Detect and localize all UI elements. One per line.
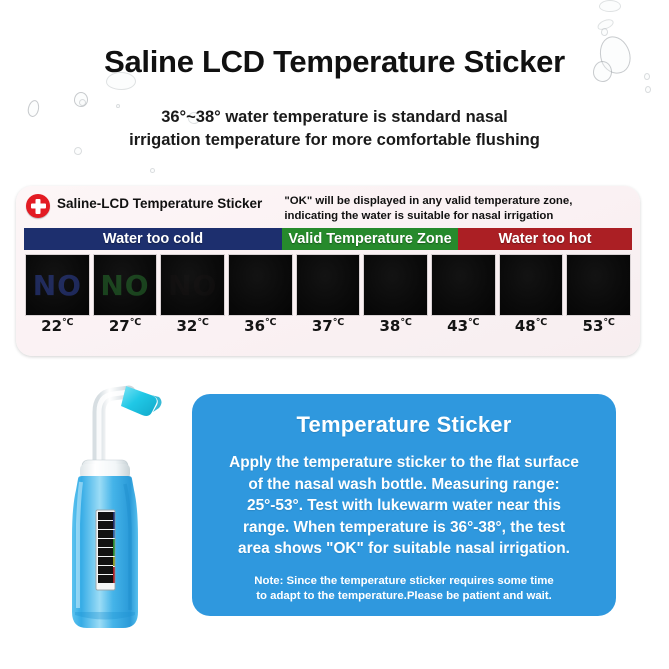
info-panel-note: Note: Since the temperature sticker requ… [206,574,602,604]
temperature-label: 27℃ [93,317,158,335]
lcd-cell [228,254,293,316]
bottle-nozzle [121,386,157,416]
temperature-label: 43℃ [431,317,496,335]
ok-note-line-2: indicating the water is suitable for nas… [284,209,572,224]
temperature-value: 27 [109,317,130,335]
temperature-unit: ℃ [265,317,277,328]
info-body-line-1: Apply the temperature sticker to the fla… [214,452,594,474]
red-cross-icon [26,194,50,218]
lcd-cell [431,254,496,316]
page-subtitle-line-2: irrigation temperature for more comforta… [0,129,669,152]
temperature-value: 43 [447,317,468,335]
lcd-cell [499,254,564,316]
temperature-label-row: 22℃ 27℃ 32℃ 36℃ 37℃ 38℃ 43℃ 48℃ 53℃ [25,317,631,335]
temperature-unit: ℃ [468,317,480,328]
temperature-unit: ℃ [197,317,209,328]
temperature-value: 22 [41,317,62,335]
temperature-unit: ℃ [536,317,548,328]
temperature-unit: ℃ [130,317,142,328]
temperature-label: 48℃ [499,317,564,335]
zone-valid-temperature: Valid Temperature Zone [282,228,458,250]
zone-water-too-cold: Water too cold [24,228,282,250]
temperature-label: 36℃ [228,317,293,335]
lcd-cell [363,254,428,316]
info-body-line-4: range. When temperature is 36°-38°, the … [214,517,594,539]
temperature-label: 37℃ [296,317,361,335]
droplet-icon [599,0,621,12]
sticker-header: Saline-LCD Temperature Sticker "OK" will… [16,186,640,228]
temperature-unit: ℃ [333,317,345,328]
temperature-value: 37 [312,317,333,335]
zone-water-too-hot: Water too hot [458,228,632,250]
droplet-icon [645,86,651,93]
ok-note-line-1: "OK" will be displayed in any valid temp… [284,194,572,209]
info-body-line-5: area shows "OK" for suitable nasal irrig… [214,538,594,560]
droplet-icon [150,168,155,173]
lcd-cell: NO [93,254,158,316]
lcd-cell-row: NO NO NO [25,254,631,316]
temperature-zone-bar: Water too cold Valid Temperature Zone Wa… [24,228,632,250]
info-body-line-2: of the nasal wash bottle. Measuring rang… [214,474,594,496]
temperature-value: 38 [380,317,401,335]
lcd-cell: NO [160,254,225,316]
info-note-line-1: Note: Since the temperature sticker requ… [234,574,574,589]
sticker-brand-label: Saline-LCD Temperature Sticker [57,196,262,211]
temperature-unit: ℃ [400,317,412,328]
info-body-line-3: 25°-53°. Test with lukewarm water near t… [214,495,594,517]
temperature-value: 48 [515,317,536,335]
page-subtitle-line-1: 36°~38° water temperature is standard na… [0,106,669,129]
temperature-sticker-card: Saline-LCD Temperature Sticker "OK" will… [16,186,640,356]
temperature-label: 53℃ [566,317,631,335]
temperature-label: 38℃ [363,317,428,335]
info-panel-title: Temperature Sticker [206,412,602,438]
bottle-illustration [55,372,185,634]
temperature-label: 32℃ [160,317,225,335]
droplet-icon [601,28,608,36]
lcd-cell-text: NO [168,269,217,302]
temperature-label: 22℃ [25,317,90,335]
lcd-cell-text: NO [33,269,82,302]
lcd-cell [566,254,631,316]
info-panel-body: Apply the temperature sticker to the fla… [206,452,602,560]
temperature-unit: ℃ [62,317,74,328]
info-note-line-2: to adapt to the temperature.Please be pa… [234,589,574,604]
temperature-value: 32 [176,317,197,335]
bottle-temperature-strip [96,510,115,590]
lcd-cell-text: NO [100,269,149,302]
page-title: Saline LCD Temperature Sticker [0,44,669,80]
temperature-value: 36 [244,317,265,335]
temperature-unit: ℃ [603,317,615,328]
page-subtitle: 36°~38° water temperature is standard na… [0,106,669,152]
droplet-icon [596,17,615,32]
droplet-icon [74,92,88,107]
nasal-wash-bottle-image [55,372,185,634]
temperature-value: 53 [583,317,604,335]
info-panel: Temperature Sticker Apply the temperatur… [192,394,616,616]
sticker-ok-note: "OK" will be displayed in any valid temp… [284,194,572,223]
droplet-icon [79,99,86,106]
lcd-cell: NO [25,254,90,316]
lcd-cell [296,254,361,316]
